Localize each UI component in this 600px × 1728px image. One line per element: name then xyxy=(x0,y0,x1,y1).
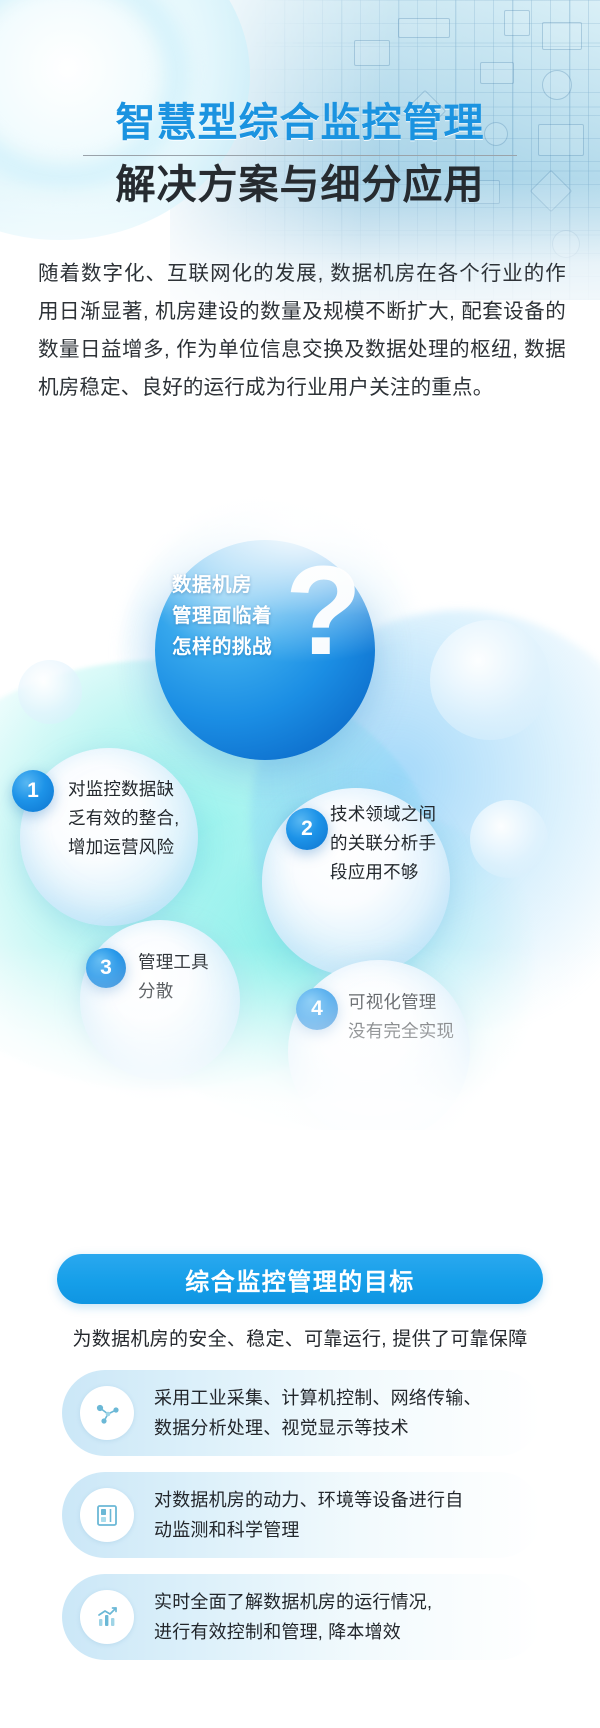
goal-2-line-2: 动监测和科学管理 xyxy=(154,1515,463,1545)
goal-text: 对数据机房的动力、环境等设备进行自 动监测和科学管理 xyxy=(154,1485,463,1545)
growth-chart-icon xyxy=(80,1590,134,1644)
title-divider xyxy=(83,155,517,156)
goal-card: 对数据机房的动力、环境等设备进行自 动监测和科学管理 xyxy=(62,1472,542,1558)
goals-banner: 综合监控管理的目标 xyxy=(57,1254,543,1304)
goals-subtitle: 为数据机房的安全、稳定、可靠运行, 提供了可靠保障 xyxy=(0,1324,600,1351)
goal-3-line-1: 实时全面了解数据机房的运行情况, xyxy=(154,1587,432,1617)
server-cabinet-icon xyxy=(80,1488,134,1542)
network-nodes-icon xyxy=(80,1386,134,1440)
scene-fade-overlay xyxy=(0,470,600,1130)
goal-card: 实时全面了解数据机房的运行情况, 进行有效控制和管理, 降本增效 xyxy=(62,1574,542,1660)
question-line-3: 怎样的挑战 xyxy=(172,632,322,663)
goal-1-line-2: 数据分析处理、视觉显示等技术 xyxy=(154,1413,482,1443)
goal-card: 采用工业采集、计算机控制、网络传输、 数据分析处理、视觉显示等技术 xyxy=(62,1370,542,1456)
challenges-section: ? 数据机房 管理面临着 怎样的挑战 1 对监控数据缺 乏有效的整合, 增加运营… xyxy=(0,470,600,1130)
intro-paragraph: 随着数字化、互联网化的发展, 数据机房在各个行业的作用日渐显著, 机房建设的数量… xyxy=(38,255,566,407)
goal-2-line-1: 对数据机房的动力、环境等设备进行自 xyxy=(154,1485,463,1515)
page-title-block: 智慧型综合监控管理 解决方案与细分应用 xyxy=(0,100,600,208)
page-title-main: 智慧型综合监控管理 xyxy=(0,100,600,146)
page-title-sub: 解决方案与细分应用 xyxy=(0,162,600,208)
question-text: 数据机房 管理面临着 怎样的挑战 xyxy=(172,570,322,663)
goal-text: 实时全面了解数据机房的运行情况, 进行有效控制和管理, 降本增效 xyxy=(154,1587,432,1647)
goal-3-line-2: 进行有效控制和管理, 降本增效 xyxy=(154,1617,432,1647)
question-line-2: 管理面临着 xyxy=(172,601,322,632)
goal-text: 采用工业采集、计算机控制、网络传输、 数据分析处理、视觉显示等技术 xyxy=(154,1383,482,1443)
infographic-page: 智慧型综合监控管理 解决方案与细分应用 随着数字化、互联网化的发展, 数据机房在… xyxy=(0,0,600,1728)
question-line-1: 数据机房 xyxy=(172,570,322,601)
goals-section: 综合监控管理的目标 为数据机房的安全、稳定、可靠运行, 提供了可靠保障 采用 xyxy=(0,1130,600,1728)
goal-1-line-1: 采用工业采集、计算机控制、网络传输、 xyxy=(154,1383,482,1413)
